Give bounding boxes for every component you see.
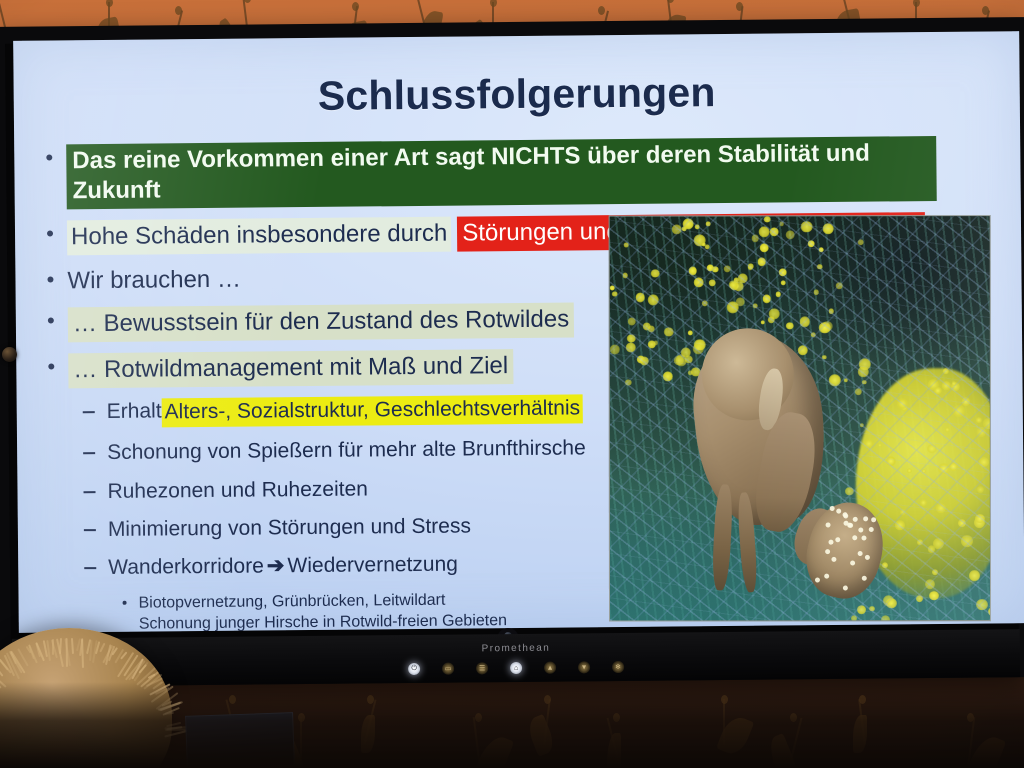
- fawn-spot: [871, 517, 877, 523]
- hair-strand: [99, 642, 105, 652]
- bullet-text: Wir brauchen …: [67, 265, 241, 297]
- display-bottom-bezel: Promethean ⏻▭☰⌂▲▼❄: [12, 629, 1020, 687]
- fawn-spot: [836, 508, 842, 514]
- fawn-spot: [842, 513, 848, 519]
- bullet-dot-icon: [46, 154, 52, 160]
- bullet-dash-icon: [83, 411, 95, 413]
- wallpaper-bud: [598, 6, 605, 15]
- fawn-spot: [857, 550, 863, 556]
- bullet-dash-icon: [84, 491, 96, 493]
- bullet-text: Ruhezonen und Ruhezeiten: [107, 476, 368, 505]
- input-icon[interactable]: ▭: [442, 663, 454, 675]
- freeze-icon[interactable]: ❄: [612, 661, 624, 673]
- fawn-spot: [852, 517, 858, 523]
- bullet-text-highlighted-yellow: Alters-, Sozialstruktur, Geschlechtsverh…: [161, 394, 583, 427]
- fawn-spot: [868, 526, 874, 532]
- bullet-dash-icon: [84, 567, 96, 569]
- fawn-spot: [842, 585, 848, 591]
- fawn-spot: [860, 535, 866, 541]
- wallpaper-bud: [667, 0, 674, 3]
- fawn-spot: [825, 522, 831, 528]
- bullet-text-highlighted-green: Das reine Vorkommen einer Art sagt NICHT…: [66, 136, 937, 209]
- wallpaper-bud: [106, 0, 113, 7]
- slide-title: Schlussfolgerungen: [14, 66, 1020, 123]
- hair-strand: [71, 638, 74, 654]
- bullet-dot-icon: [47, 276, 53, 282]
- bullet-text-plain: Hohe Schäden insbesondere durch: [67, 217, 452, 256]
- bullet-dot-icon: [47, 230, 53, 236]
- hair-strand: [81, 639, 84, 668]
- bullet-dash-icon: [84, 529, 96, 531]
- bezel-control-button-row[interactable]: ⏻▭☰⌂▲▼❄: [408, 661, 624, 675]
- wallpaper-bud: [175, 6, 182, 15]
- fawn-spot: [831, 556, 837, 562]
- wallpaper-bud: [490, 0, 497, 7]
- table-foreground: [0, 682, 1024, 768]
- bullet-dot-icon: [123, 601, 127, 605]
- bullet-text: Schonung von Spießern für mehr alte Brun…: [107, 436, 586, 467]
- wallpaper-bud: [244, 0, 251, 3]
- volume-down-icon[interactable]: ▼: [578, 661, 590, 673]
- bullet-text-plain: Erhalt: [107, 398, 162, 425]
- fawn-spot: [863, 516, 869, 522]
- ir-sensor-icon: [2, 347, 17, 362]
- bullet-text-after: Wiedervernetzung: [287, 552, 458, 580]
- wallpaper-stem: [0, 0, 6, 28]
- wallpaper-bud: [736, 2, 743, 11]
- right-arrow-icon: ➔: [264, 553, 288, 579]
- fawn-spot: [861, 576, 867, 582]
- hair-strand: [46, 640, 51, 661]
- volume-up-icon[interactable]: ▲: [544, 662, 556, 674]
- bullet-text: Minimierung von Störungen und Stress: [108, 513, 471, 543]
- bullet-text-highlighted-softgreen: … Bewusstsein für den Zustand des Rotwil…: [68, 302, 575, 342]
- fawn-spot: [814, 577, 820, 583]
- bullet-dash-icon: [83, 452, 95, 454]
- fawn-spot: [825, 549, 831, 555]
- fawn-spot: [823, 573, 829, 579]
- screenshot-stage: Schlussfolgerungen Das reine Vorkommen e…: [0, 0, 1024, 768]
- fawn-spot: [850, 560, 856, 566]
- fawn-spot: [851, 534, 857, 540]
- wallpaper-bud: [982, 6, 989, 15]
- bullet-item-l1-1: Das reine Vorkommen einer Art sagt NICHT…: [36, 136, 937, 210]
- display-screen[interactable]: Schlussfolgerungen Das reine Vorkommen e…: [13, 31, 1024, 633]
- fawn-spot: [829, 506, 835, 512]
- menu-icon[interactable]: ☰: [476, 662, 488, 674]
- bullet-dot-icon: [48, 317, 54, 323]
- presentation-slide: Schlussfolgerungen Das reine Vorkommen e…: [13, 31, 1024, 633]
- bullet-dot-icon: [48, 363, 54, 369]
- wallpaper-bud: [913, 0, 920, 7]
- bullet-text-highlighted-softgreen: … Rotwildmanagement mit Maß und Ziel: [68, 349, 513, 388]
- home-icon[interactable]: ⌂: [510, 662, 522, 674]
- wallpaper-bud: [352, 2, 359, 11]
- slide-photo-red-deer: [609, 215, 991, 621]
- bullet-text-before: Wanderkorridore: [108, 553, 264, 581]
- fawn-spot: [835, 537, 841, 543]
- brand-label: Promethean: [12, 638, 1020, 659]
- fawn-spot: [858, 527, 864, 533]
- fawn-spot: [864, 555, 870, 561]
- power-icon[interactable]: ⏻: [408, 663, 420, 675]
- fawn-spot: [827, 539, 833, 545]
